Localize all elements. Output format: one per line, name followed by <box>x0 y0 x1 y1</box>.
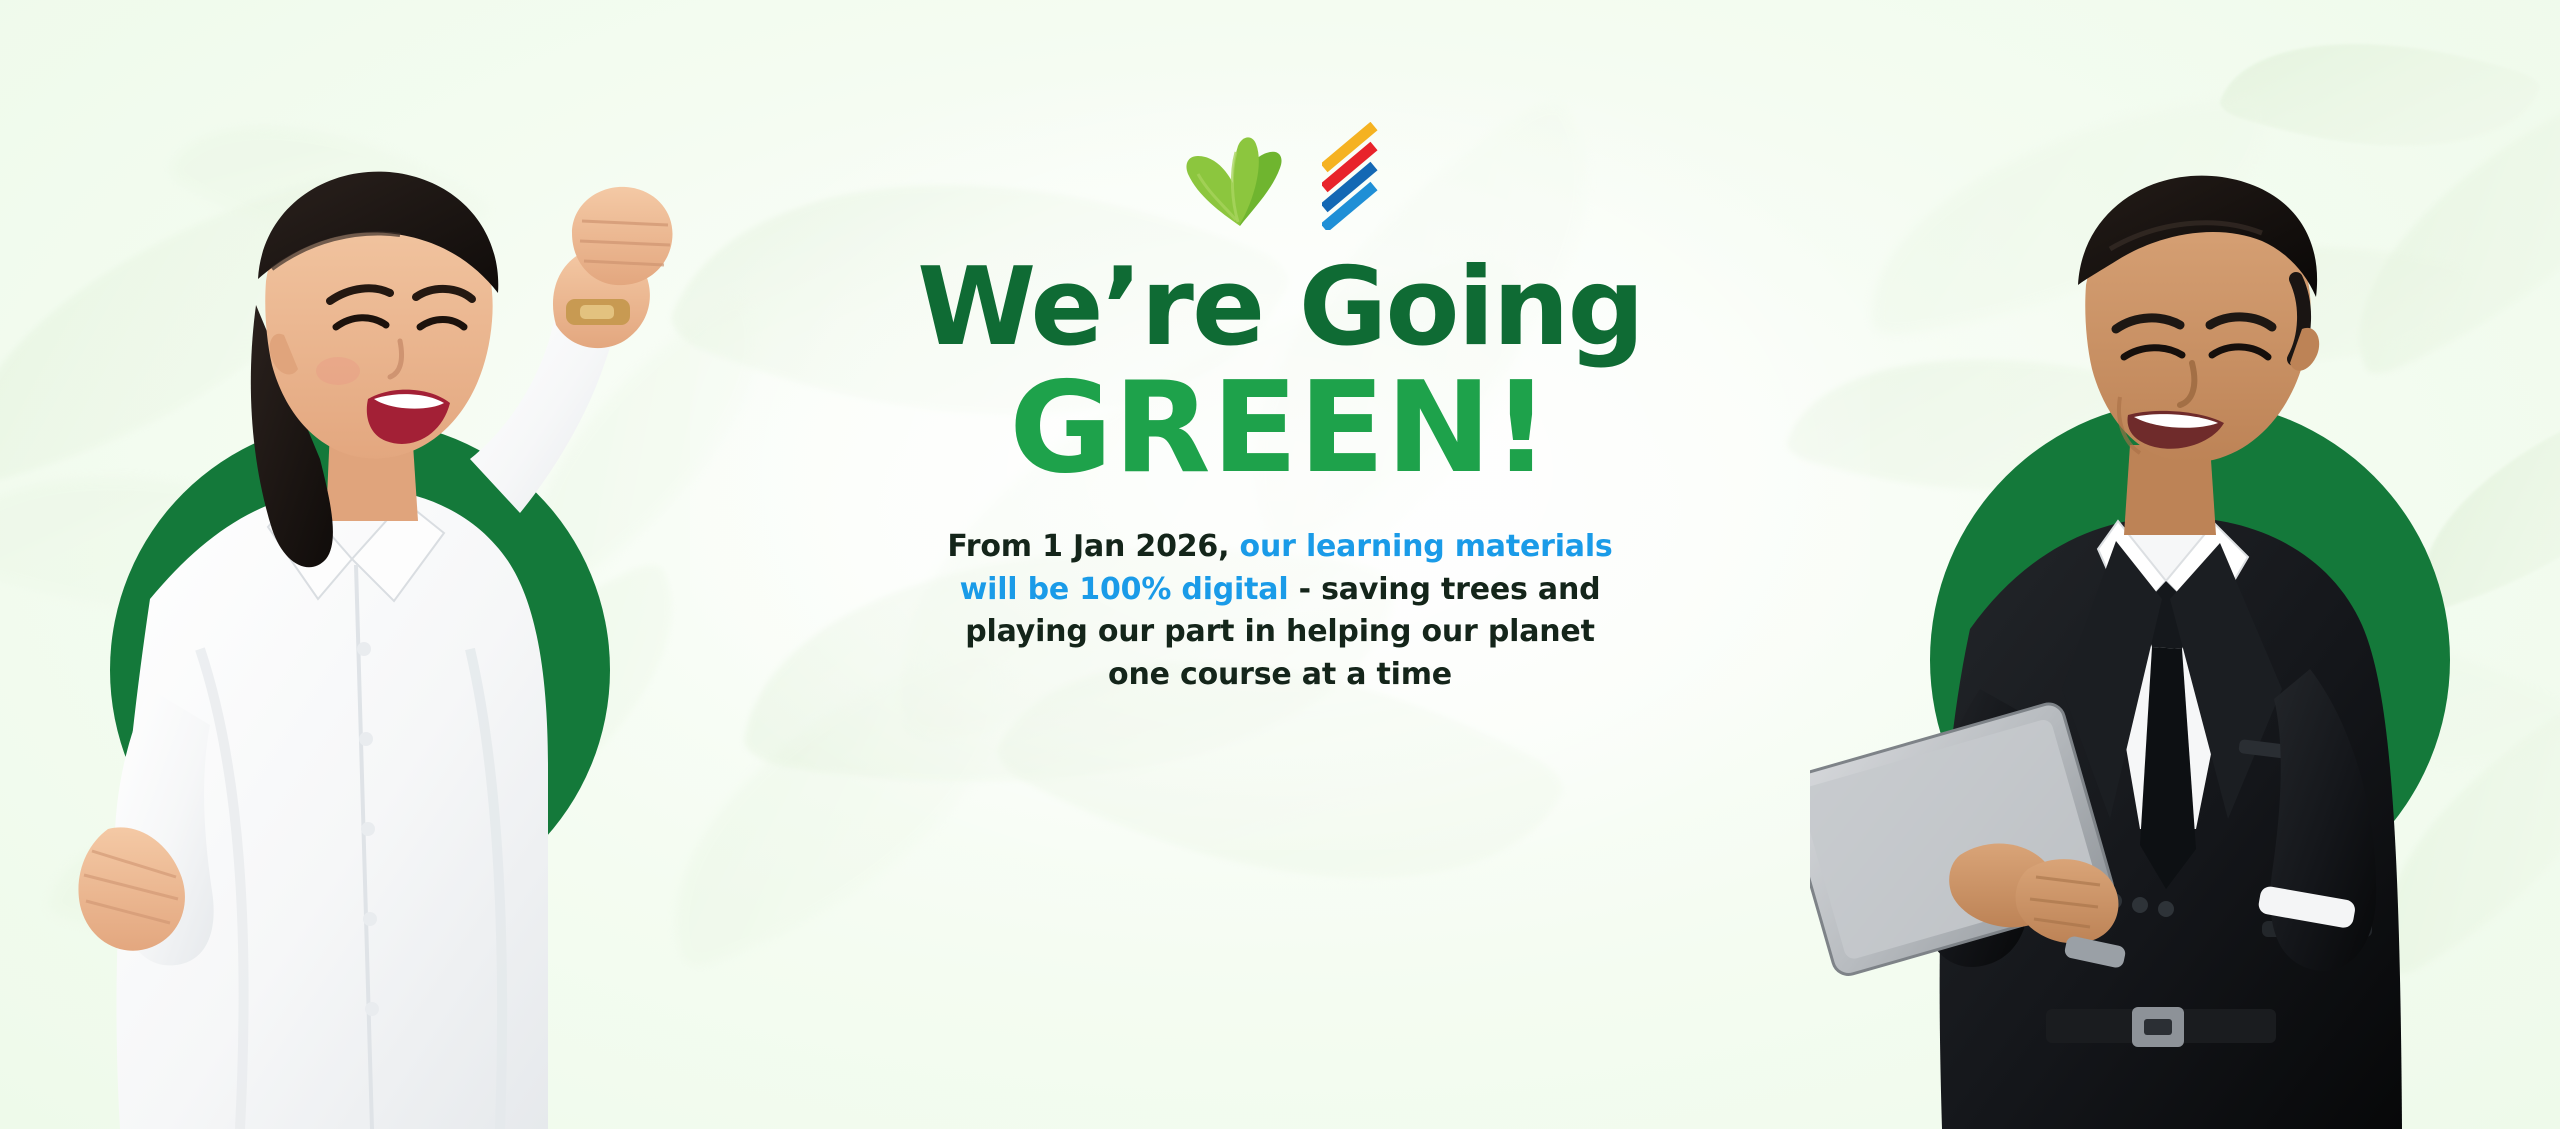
subtitle-highlight-2: 100% digital <box>1079 572 1288 607</box>
announcement-content: We’re Going GREEN! From 1 Jan 2026, our … <box>780 120 1780 697</box>
subtitle-part-dark-1: From 1 Jan 2026, <box>947 529 1229 564</box>
cheek-blush <box>316 357 360 385</box>
subtitle-text: From 1 Jan 2026, our learning materials … <box>930 526 1630 696</box>
headline-line-2: GREEN! <box>780 364 1780 493</box>
smiling-man-tablet-illustration <box>1810 129 2530 1129</box>
raised-fist <box>572 187 673 285</box>
brand-logo <box>780 120 1780 230</box>
headline-line-1: We’re Going <box>780 256 1780 360</box>
diagonal-stripes-icon <box>1322 122 1380 230</box>
celebrating-woman-illustration <box>0 129 720 1129</box>
going-green-banner: We’re Going GREEN! From 1 Jan 2026, our … <box>0 0 2560 1129</box>
leaf-sprout-icon <box>1180 134 1300 230</box>
